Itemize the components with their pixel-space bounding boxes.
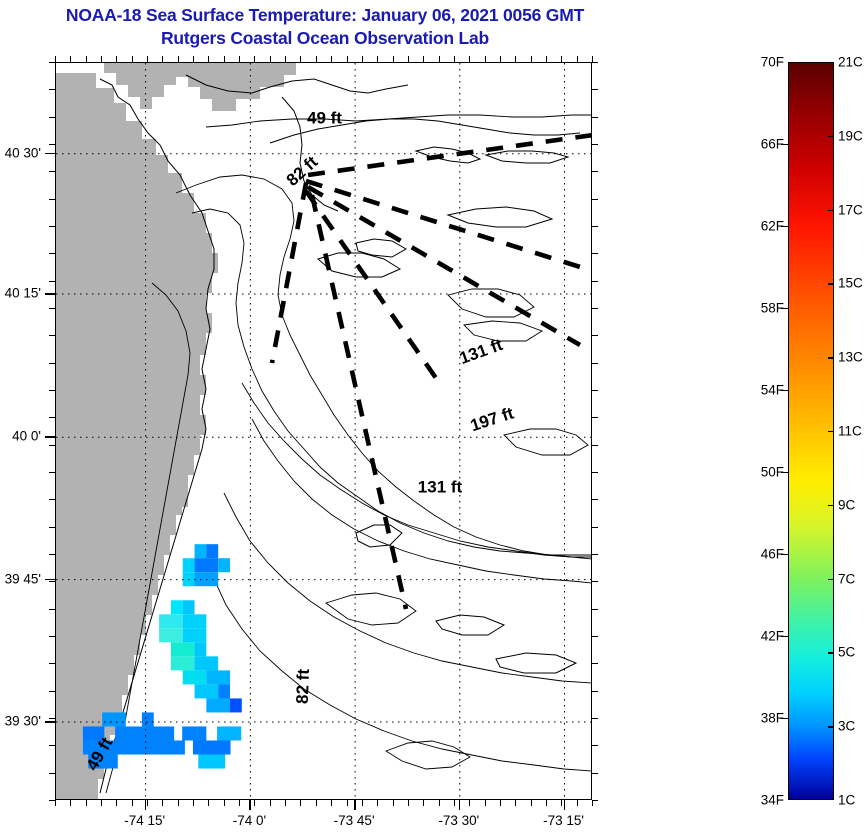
y-minor-tick [49, 691, 55, 692]
colorbar-celsius-label: 11C [838, 424, 862, 439]
y-minor-tick [592, 417, 598, 418]
x-minor-tick [239, 800, 240, 806]
colorbar-celsius-tick [828, 505, 834, 506]
y-major-tick [45, 293, 55, 295]
colorbar-celsius-tick [828, 652, 834, 653]
y-minor-tick [592, 499, 598, 500]
x-minor-tick [162, 800, 163, 806]
x-minor-tick [515, 800, 516, 806]
sst-pixel [102, 712, 126, 726]
y-minor-tick [49, 499, 55, 500]
y-axis-label: 39 45' [0, 571, 41, 586]
y-minor-tick [49, 472, 55, 473]
y-minor-tick [49, 417, 55, 418]
y-minor-tick [592, 800, 598, 801]
y-minor-tick [592, 62, 598, 63]
x-minor-tick [70, 56, 71, 62]
y-minor-tick [592, 117, 598, 118]
colorbar-celsius-tick [828, 726, 834, 727]
x-minor-tick [270, 800, 271, 806]
x-minor-tick [362, 56, 363, 62]
x-minor-tick [208, 800, 209, 806]
y-minor-tick [49, 117, 55, 118]
x-minor-tick [469, 56, 470, 62]
sst-pixel [195, 558, 219, 572]
y-major-tick [45, 721, 55, 723]
land-block-g [240, 73, 256, 85]
colorbar-celsius-label: 15C [838, 276, 863, 291]
x-minor-tick [577, 800, 578, 806]
colorbar-celsius-tick [828, 136, 834, 137]
sst-pixel [217, 726, 241, 740]
y-minor-tick [592, 390, 598, 391]
x-minor-tick [254, 800, 255, 806]
sst-pixel [195, 544, 207, 558]
page-title: NOAA-18 Sea Surface Temperature: January… [0, 4, 650, 27]
y-axis-label: 40 30' [0, 145, 41, 160]
x-minor-tick [546, 800, 547, 806]
x-minor-tick [162, 56, 163, 62]
colorbar-celsius-label: 3C [838, 719, 855, 734]
sst-map-panel[interactable]: 49 ft82 ft131 ft197 ft131 ft82 ft49 ft [55, 62, 592, 800]
sst-pixel [171, 600, 183, 614]
y-minor-tick [592, 581, 598, 582]
x-minor-tick [347, 56, 348, 62]
colorbar-fahrenheit-tick [781, 554, 788, 555]
colorbar-celsius-label: 17C [838, 202, 863, 217]
colorbar-fahrenheit-labels: 70F66F62F58F54F50F46F42F38F34F [744, 62, 784, 800]
colorbar-fahrenheit-tick [781, 226, 788, 227]
sst-pixel [183, 614, 207, 628]
sst-pixel [159, 628, 183, 642]
x-axis-label: -74 15' [124, 813, 165, 828]
sst-pixel [115, 726, 174, 740]
sst-pixel [206, 698, 230, 712]
land-block-c [56, 777, 86, 799]
colorbar-fahrenheit-tick [781, 308, 788, 309]
x-minor-tick [208, 56, 209, 62]
colorbar-celsius-label: 13C [838, 350, 863, 365]
y-minor-tick [49, 554, 55, 555]
colorbar-celsius-label: 19C [838, 128, 863, 143]
x-minor-tick [577, 56, 578, 62]
colorbar-celsius-tick [828, 579, 834, 580]
x-minor-tick [347, 800, 348, 806]
y-minor-tick [49, 62, 55, 63]
x-minor-tick [439, 800, 440, 806]
y-minor-tick [49, 199, 55, 200]
colorbar-fahrenheit-tick [781, 472, 788, 473]
y-minor-tick [592, 745, 598, 746]
y-minor-tick [592, 691, 598, 692]
sst-pixel [142, 712, 154, 726]
sst-pixel [171, 656, 195, 670]
y-minor-tick [49, 663, 55, 664]
x-minor-tick [561, 800, 562, 806]
colorbar-fahrenheit-tick [781, 718, 788, 719]
colorbar-fahrenheit-tick [781, 636, 788, 637]
x-minor-tick [439, 56, 440, 62]
x-minor-tick [178, 800, 179, 806]
y-minor-tick [49, 527, 55, 528]
x-minor-tick [469, 800, 470, 806]
y-minor-tick [592, 773, 598, 774]
x-minor-tick [393, 800, 394, 806]
x-major-tick [354, 800, 356, 810]
depth-contour-label: 49 ft [307, 109, 342, 128]
x-major-tick [145, 800, 147, 810]
x-minor-tick [454, 56, 455, 62]
x-minor-tick [408, 56, 409, 62]
x-minor-tick [116, 800, 117, 806]
depth-contour-label: 82 ft [293, 668, 313, 704]
y-minor-tick [592, 472, 598, 473]
sst-pixel [195, 684, 219, 698]
y-minor-tick [49, 308, 55, 309]
x-minor-tick [270, 56, 271, 62]
sst-pixel [206, 544, 218, 558]
y-minor-tick [592, 663, 598, 664]
map-canvas: 49 ft82 ft131 ft197 ft131 ft82 ft49 ft [56, 63, 591, 799]
sst-pixel [195, 642, 207, 656]
x-minor-tick [178, 56, 179, 62]
x-minor-tick [331, 56, 332, 62]
x-minor-tick [515, 56, 516, 62]
x-major-tick [459, 800, 461, 810]
y-minor-tick [592, 609, 598, 610]
y-major-tick [45, 436, 55, 438]
x-minor-tick [423, 56, 424, 62]
x-minor-tick [147, 800, 148, 806]
y-minor-tick [592, 253, 598, 254]
y-minor-tick [49, 171, 55, 172]
x-minor-tick [454, 800, 455, 806]
x-minor-tick [531, 56, 532, 62]
y-minor-tick [49, 335, 55, 336]
colorbar-fahrenheit-label: 70F [761, 55, 784, 70]
sst-pixel [183, 558, 195, 572]
land-block-d [66, 699, 94, 717]
x-minor-tick [408, 800, 409, 806]
y-minor-tick [592, 226, 598, 227]
y-minor-tick [49, 745, 55, 746]
x-minor-tick [561, 56, 562, 62]
x-major-tick [249, 800, 251, 810]
x-minor-tick [285, 56, 286, 62]
sst-pixel [193, 740, 231, 754]
sst-pixel [183, 670, 207, 684]
x-minor-tick [331, 800, 332, 806]
colorbar-fahrenheit-label: 34F [761, 793, 784, 808]
x-minor-tick [101, 800, 102, 806]
colorbar-celsius-label: 9C [838, 497, 855, 512]
x-minor-tick [101, 56, 102, 62]
y-minor-tick [592, 171, 598, 172]
colorbar-celsius-label: 5C [838, 645, 855, 660]
land-block-e [174, 493, 188, 507]
x-minor-tick [362, 800, 363, 806]
x-minor-tick [393, 56, 394, 62]
y-minor-tick [49, 800, 55, 801]
x-minor-tick [285, 800, 286, 806]
sst-pixel [183, 628, 207, 642]
x-minor-tick [224, 56, 225, 62]
y-axis-label: 40 0' [0, 429, 41, 444]
x-minor-tick [300, 56, 301, 62]
x-minor-tick [70, 800, 71, 806]
colorbar-celsius-tick [828, 210, 834, 211]
y-minor-tick [49, 609, 55, 610]
colorbar-celsius-label: 21C [838, 55, 863, 70]
y-minor-tick [49, 363, 55, 364]
colorbar-celsius-labels: 21C19C17C15C13C11C9C7C5C3C1C [838, 62, 864, 800]
depth-contour-label: 131 ft [418, 478, 463, 497]
x-minor-tick [193, 800, 194, 806]
y-minor-tick [49, 89, 55, 90]
y-minor-tick [592, 89, 598, 90]
x-axis-label: -74 0' [233, 813, 266, 828]
y-major-tick [45, 579, 55, 581]
y-minor-tick [592, 554, 598, 555]
x-minor-tick [132, 56, 133, 62]
sst-pixel [198, 755, 225, 769]
x-minor-tick [377, 800, 378, 806]
land-block-f [216, 85, 234, 99]
sst-pixel [218, 684, 230, 698]
y-minor-tick [49, 144, 55, 145]
sst-pixel [159, 614, 183, 628]
y-minor-tick [49, 253, 55, 254]
colorbar-fahrenheit-tick [781, 390, 788, 391]
x-minor-tick [55, 56, 56, 62]
y-minor-tick [592, 445, 598, 446]
y-minor-tick [592, 718, 598, 719]
x-minor-tick [193, 56, 194, 62]
sst-pixel [183, 600, 195, 614]
y-minor-tick [49, 636, 55, 637]
colorbar-celsius-tick [828, 283, 834, 284]
x-axis-label: -73 15' [543, 813, 584, 828]
colorbar-celsius-tick [828, 431, 834, 432]
sst-pixel [171, 642, 195, 656]
y-minor-tick [49, 445, 55, 446]
colorbar-celsius-tick [828, 357, 834, 358]
x-minor-tick [377, 56, 378, 62]
x-minor-tick [531, 800, 532, 806]
x-minor-tick [55, 800, 56, 806]
x-minor-tick [546, 56, 547, 62]
x-minor-tick [239, 56, 240, 62]
sst-pixel [206, 670, 230, 684]
x-axis-label: -73 45' [334, 813, 375, 828]
y-minor-tick [592, 308, 598, 309]
sst-pixel [230, 698, 242, 712]
sst-pixel [195, 656, 219, 670]
x-axis-label: -73 30' [438, 813, 479, 828]
colorbar-celsius-label: 7C [838, 571, 855, 586]
chart-title-block: NOAA-18 Sea Surface Temperature: January… [0, 4, 650, 50]
y-minor-tick [49, 581, 55, 582]
x-minor-tick [300, 800, 301, 806]
sst-pixel [218, 558, 230, 572]
y-major-tick [45, 153, 55, 155]
x-minor-tick [485, 800, 486, 806]
x-minor-tick [500, 56, 501, 62]
y-minor-tick [592, 144, 598, 145]
y-axis-label: 40 15' [0, 285, 41, 300]
y-minor-tick [592, 199, 598, 200]
x-minor-tick [316, 800, 317, 806]
page-subtitle: Rutgers Coastal Ocean Observation Lab [0, 27, 650, 50]
land-block-h [152, 63, 196, 77]
x-minor-tick [147, 56, 148, 62]
colorbar-gradient [789, 63, 833, 799]
y-minor-tick [49, 773, 55, 774]
y-minor-tick [49, 390, 55, 391]
y-minor-tick [592, 335, 598, 336]
map-graphics: 49 ft82 ft131 ft197 ft131 ft82 ft49 ft [56, 63, 591, 799]
colorbar-celsius-label: 1C [838, 793, 855, 808]
y-minor-tick [592, 363, 598, 364]
x-minor-tick [485, 56, 486, 62]
y-minor-tick [49, 718, 55, 719]
x-minor-tick [423, 800, 424, 806]
y-minor-tick [592, 281, 598, 282]
colorbar-fahrenheit-tick [781, 144, 788, 145]
y-axis-label: 39 30' [0, 714, 41, 729]
y-minor-tick [49, 281, 55, 282]
x-minor-tick [132, 800, 133, 806]
sst-pixel [182, 726, 206, 740]
x-major-tick [564, 800, 566, 810]
x-minor-tick [316, 56, 317, 62]
y-minor-tick [49, 226, 55, 227]
x-minor-tick [500, 800, 501, 806]
x-minor-tick [86, 56, 87, 62]
x-minor-tick [224, 800, 225, 806]
y-minor-tick [592, 527, 598, 528]
y-minor-tick [592, 636, 598, 637]
x-minor-tick [254, 56, 255, 62]
x-minor-tick [116, 56, 117, 62]
x-minor-tick [86, 800, 87, 806]
